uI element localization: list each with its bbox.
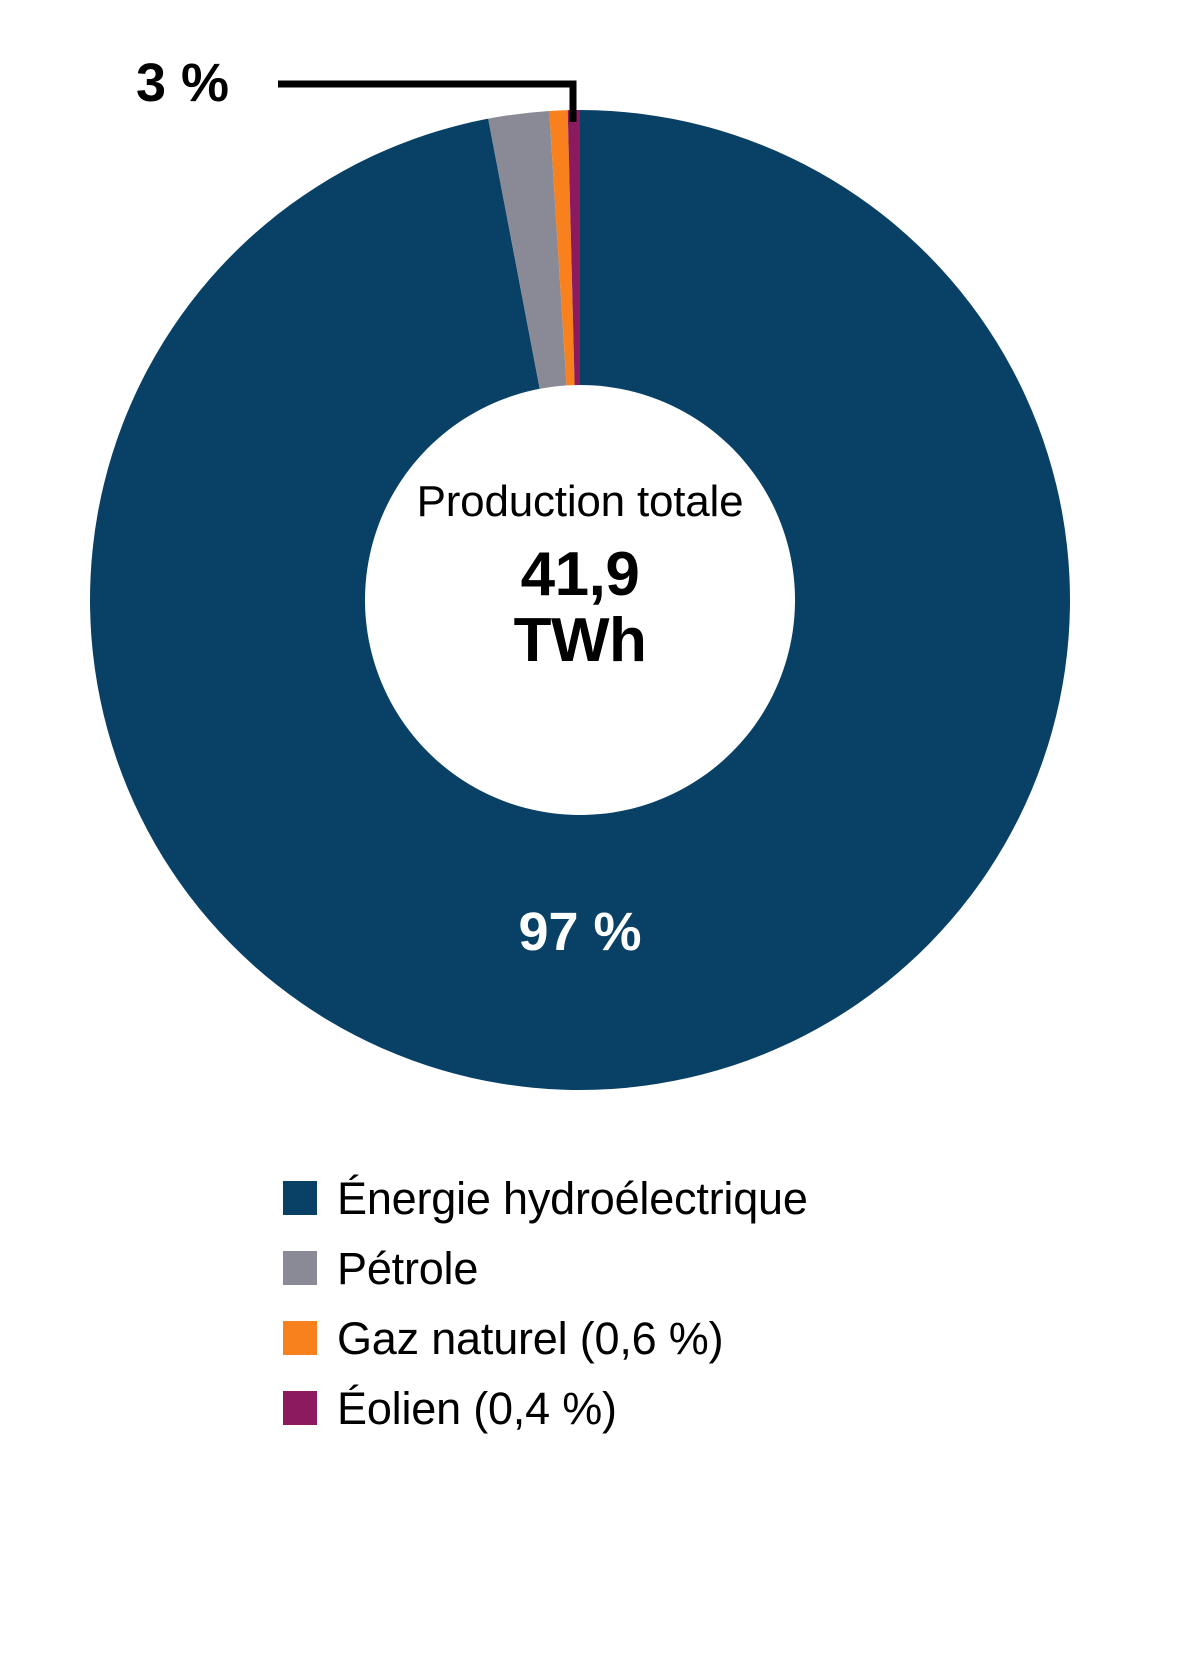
legend-swatch-icon-hydro xyxy=(283,1181,317,1215)
legend-item-gaz[interactable]: Gaz naturel (0,6 %) xyxy=(283,1303,983,1373)
slice-label-hydro: 97 % xyxy=(460,905,700,959)
legend-item-eolien[interactable]: Éolien (0,4 %) xyxy=(283,1373,983,1443)
legend-swatch-icon-petrole xyxy=(283,1251,317,1285)
legend-label-hydro: Énergie hydroélectrique xyxy=(337,1176,808,1221)
donut-chart-figure: 3 % Production totale 41,9 TWh 97 % Éner… xyxy=(0,0,1200,1680)
legend-label-gaz: Gaz naturel (0,6 %) xyxy=(337,1316,723,1361)
legend-swatch-icon-gaz xyxy=(283,1321,317,1355)
legend-label-eolien: Éolien (0,4 %) xyxy=(337,1386,617,1431)
callout-label-petrole: 3 % xyxy=(136,56,229,110)
legend-label-petrole: Pétrole xyxy=(337,1246,478,1291)
legend-item-petrole[interactable]: Pétrole xyxy=(283,1233,983,1303)
legend: Énergie hydroélectrique Pétrole Gaz natu… xyxy=(283,1163,983,1443)
legend-swatch-icon-eolien xyxy=(283,1391,317,1425)
legend-item-hydro[interactable]: Énergie hydroélectrique xyxy=(283,1163,983,1233)
